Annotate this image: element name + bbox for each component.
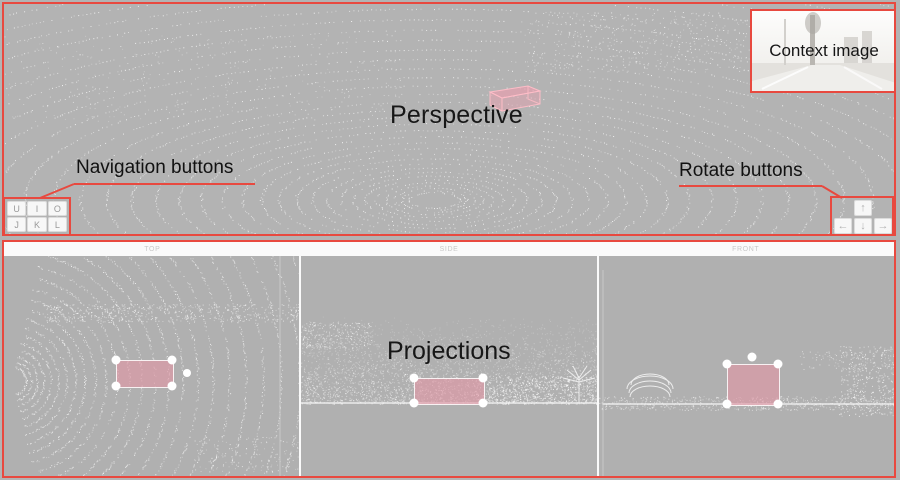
- rotate-right-icon[interactable]: →: [874, 218, 892, 234]
- nav-key-l[interactable]: L: [48, 217, 67, 232]
- bounding-box-front[interactable]: [727, 364, 780, 406]
- nav-key-i[interactable]: I: [27, 201, 46, 216]
- bounding-box-top[interactable]: [116, 360, 174, 388]
- annotation-label-projections: Projections: [387, 337, 511, 366]
- rotate-buttons-group[interactable]: ↑ ← ↓ →: [830, 196, 894, 236]
- projection-title-front: FRONT: [597, 242, 894, 256]
- handle-bottom-left[interactable]: [722, 400, 731, 409]
- projection-view-top[interactable]: [4, 256, 299, 476]
- annotation-tool-root: Perspective C: [0, 0, 900, 480]
- handle-top-right[interactable]: [168, 356, 177, 365]
- handle-top-right[interactable]: [773, 360, 782, 369]
- handle-bottom-left[interactable]: [410, 399, 419, 408]
- handle-top-left[interactable]: [410, 374, 419, 383]
- handle-bottom-right[interactable]: [479, 399, 488, 408]
- handle-top-right[interactable]: [479, 374, 488, 383]
- perspective-view-label: Perspective: [390, 101, 523, 130]
- lidar-points-side: [301, 256, 596, 476]
- rotate-down-icon[interactable]: ↓: [854, 218, 872, 234]
- nav-key-o[interactable]: O: [48, 201, 67, 216]
- projection-title-side: SIDE: [301, 242, 598, 256]
- rotate-left-icon[interactable]: ←: [834, 218, 852, 234]
- nav-key-k[interactable]: K: [27, 217, 46, 232]
- handle-bottom-right[interactable]: [168, 382, 177, 391]
- projection-views: [4, 256, 894, 476]
- projection-view-side[interactable]: [299, 256, 596, 476]
- rotate-up-icon[interactable]: ↑: [854, 200, 872, 216]
- nav-key-j[interactable]: J: [7, 217, 26, 232]
- perspective-panel[interactable]: Perspective C: [2, 2, 896, 236]
- handle-bottom-left[interactable]: [112, 382, 121, 391]
- navigation-buttons-group[interactable]: U I O J K L: [3, 197, 71, 236]
- annotation-label-rotate: Rotate buttons: [679, 160, 803, 182]
- projection-title-top: TOP: [4, 242, 301, 256]
- handle-top-left[interactable]: [112, 356, 121, 365]
- annotation-label-navigation: Navigation buttons: [76, 157, 233, 179]
- bounding-box-side[interactable]: [414, 378, 485, 405]
- projection-headers: TOP SIDE FRONT: [4, 242, 894, 256]
- context-image-panel[interactable]: Context image: [750, 9, 896, 93]
- nav-key-u[interactable]: U: [7, 201, 26, 216]
- handle-bottom-right[interactable]: [773, 400, 782, 409]
- handle-top-left[interactable]: [722, 360, 731, 369]
- handle-heading-top[interactable]: [183, 369, 191, 377]
- context-image-label: Context image: [752, 11, 896, 91]
- projection-view-front[interactable]: [597, 256, 894, 476]
- handle-top-center[interactable]: [747, 353, 756, 362]
